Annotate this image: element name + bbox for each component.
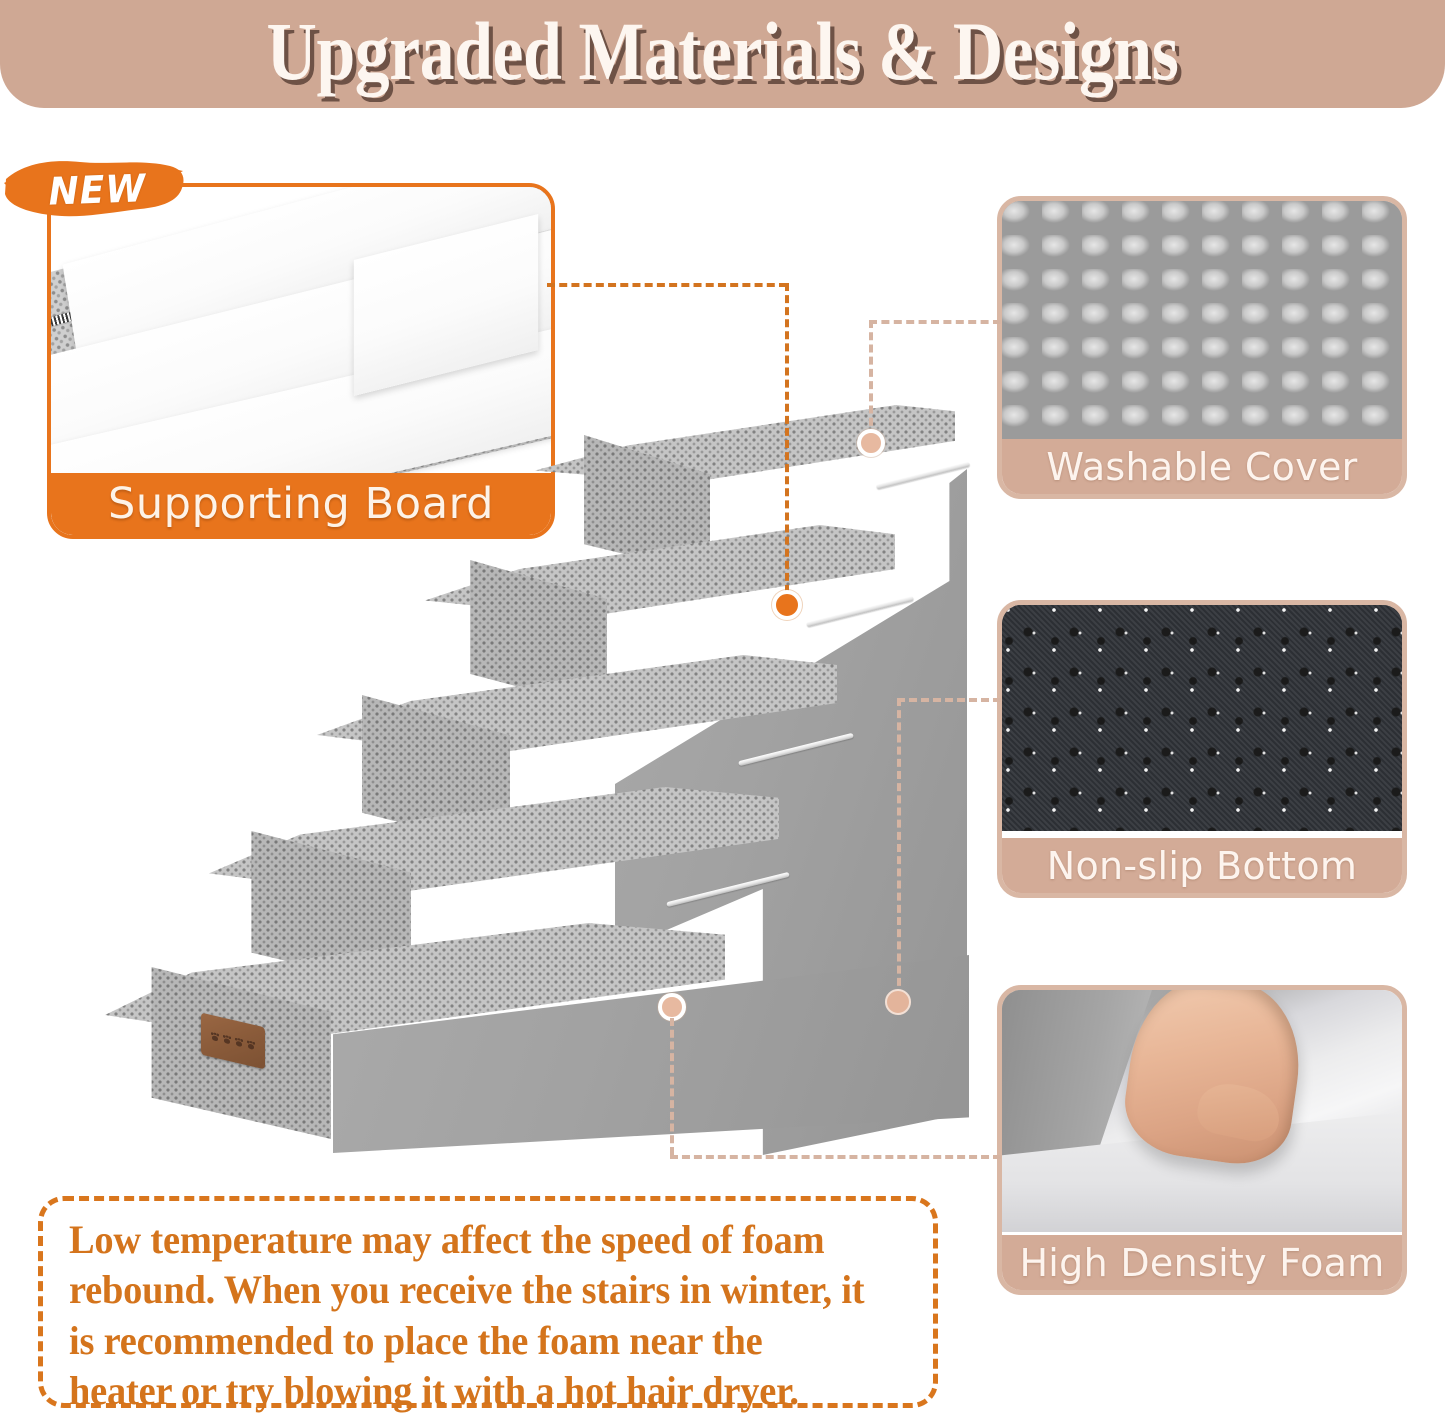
paw-print-icon [211, 1032, 219, 1042]
connector-non-slip-horizontal [897, 698, 1001, 702]
connector-foam-horizontal [670, 1155, 1001, 1159]
paw-print-icon [223, 1035, 231, 1045]
feature-panel-non-slip-bottom: Non-slip Bottom [997, 600, 1407, 898]
high-density-foam-label: High Density Foam [1002, 1235, 1402, 1290]
connector-non-slip-vertical [897, 698, 901, 998]
new-badge-label: NEW [6, 154, 184, 226]
connector-washable-cover-vertical [869, 320, 873, 438]
page-title: Upgraded Materials & Designs [116, 0, 1330, 108]
new-badge: NEW [2, 157, 187, 223]
non-slip-bottom-photo [1002, 605, 1402, 831]
feature-panel-high-density-foam: High Density Foam [997, 985, 1407, 1295]
hotspot-supporting-board[interactable] [772, 590, 802, 620]
bottom-note-text: Low temperature may affect the speed of … [69, 1215, 873, 1417]
paw-print-icon [247, 1040, 255, 1050]
connector-supporting-board-horizontal [547, 283, 787, 287]
hotspot-washable-cover[interactable] [857, 429, 885, 457]
paw-print-icon [235, 1037, 243, 1047]
non-slip-bottom-label: Non-slip Bottom [1002, 838, 1402, 893]
connector-supporting-board-vertical [785, 283, 789, 605]
bottom-note-box: Low temperature may affect the speed of … [38, 1196, 938, 1408]
hotspot-non-slip-bottom[interactable] [885, 989, 911, 1015]
washable-cover-photo [1002, 201, 1402, 439]
high-density-foam-photo [1002, 990, 1402, 1232]
connector-foam-vertical [670, 1018, 674, 1155]
hotspot-high-density-foam[interactable] [658, 993, 686, 1021]
washable-cover-label: Washable Cover [1002, 439, 1402, 494]
connector-washable-cover-horizontal [869, 320, 1001, 324]
feature-panel-washable-cover: Washable Cover [997, 196, 1407, 499]
product-stairs-image [105, 395, 985, 1175]
